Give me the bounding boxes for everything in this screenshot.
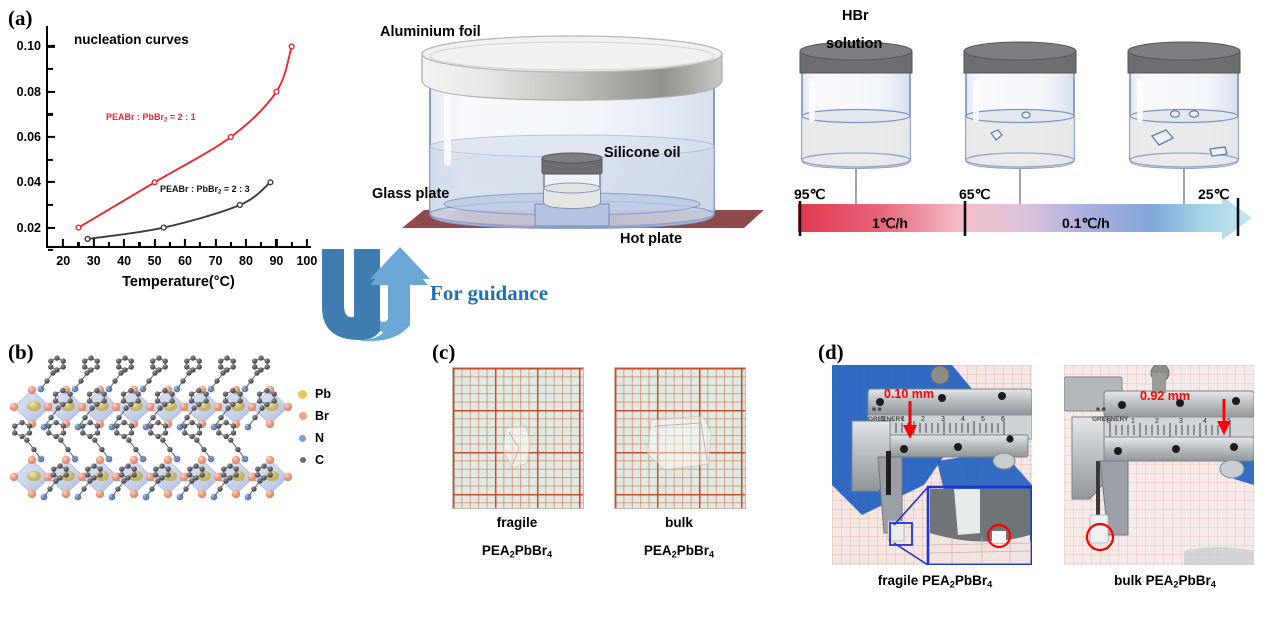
c-atom <box>91 475 96 480</box>
vial-3 <box>1128 42 1240 168</box>
c-atom <box>51 466 56 471</box>
br-atom <box>62 456 70 464</box>
c-atom <box>223 391 228 396</box>
c-atom <box>272 391 277 396</box>
c-atom <box>116 364 121 369</box>
c-atom <box>194 437 199 442</box>
y-tick-mark <box>48 181 55 183</box>
br-atom <box>44 473 52 481</box>
c-atom <box>223 434 228 439</box>
br-atom <box>96 456 104 464</box>
br-atom <box>78 403 86 411</box>
caption-c-right-formula: PEA2PbBr4 <box>599 543 759 559</box>
chart-plot-frame: nucleation curves PEABr : PbBr2 = 2 : 1 … <box>46 26 311 248</box>
c-atom <box>121 398 126 403</box>
svg-text:■ ■: ■ ■ <box>1096 406 1106 413</box>
label-hbr: HBr <box>842 8 869 24</box>
c-atom <box>189 391 194 396</box>
c-atom <box>54 367 59 372</box>
c-atom <box>27 423 32 428</box>
c-atom <box>64 466 69 471</box>
temp-label-25: 25℃ <box>1198 186 1229 203</box>
data-point <box>289 44 294 49</box>
c-atom <box>231 430 236 435</box>
c-atom <box>252 358 257 363</box>
c-atom <box>231 423 236 428</box>
pb-atom <box>27 401 41 411</box>
caption-c-right-quality: bulk <box>599 515 759 530</box>
c-atom <box>82 358 87 363</box>
legend-label-n: N <box>315 431 324 445</box>
crystal-structure-diagram: PbBrNC <box>10 335 410 615</box>
br-atom <box>28 386 36 394</box>
c-atom <box>163 364 168 369</box>
c-atom <box>87 420 92 425</box>
c-atom <box>166 466 171 471</box>
br-atom <box>180 403 188 411</box>
chart-x-axis-label: Temperature(°C) <box>122 274 235 290</box>
c-atom <box>221 472 226 477</box>
c-atom <box>258 367 263 372</box>
c-atom <box>261 475 266 480</box>
x-tick-label: 30 <box>87 246 101 268</box>
panel-label-a: (a) <box>8 6 33 31</box>
x-tick-label: 60 <box>178 246 192 268</box>
c-atom <box>163 423 168 428</box>
c-atom <box>148 423 153 428</box>
data-point <box>76 225 81 230</box>
c-atom <box>129 364 134 369</box>
br-atom <box>248 403 256 411</box>
y-tick-mark <box>48 91 55 93</box>
c-atom <box>155 391 160 396</box>
c-atom <box>257 391 262 396</box>
x-minor-tick <box>230 242 232 247</box>
c-atom <box>61 423 66 428</box>
c-atom <box>257 398 262 403</box>
c-atom <box>204 398 209 403</box>
c-atom <box>48 364 53 369</box>
oil-bath-drawing <box>372 18 772 258</box>
c-atom <box>85 466 90 471</box>
c-atom <box>231 364 236 369</box>
vial-1 <box>800 42 912 168</box>
c-atom <box>95 430 100 435</box>
br-atom <box>214 403 222 411</box>
x-minor-tick <box>260 242 262 247</box>
c-atom <box>197 358 202 363</box>
br-atom <box>214 473 222 481</box>
x-tick-label: 70 <box>209 246 223 268</box>
c-atom <box>182 423 187 428</box>
ruler-tick-number: 3 <box>941 416 945 423</box>
c-atom <box>163 358 168 363</box>
y-minor-tick <box>48 159 53 161</box>
chart-plot-area: nucleation curves PEABr : PbBr2 = 2 : 1 … <box>48 26 311 246</box>
legend-dot-pb <box>298 390 307 399</box>
c-atom <box>87 398 92 403</box>
vial-2 <box>964 42 1076 168</box>
c-atom <box>255 472 260 477</box>
c-atom <box>98 466 103 471</box>
br-atom <box>78 473 86 481</box>
legend-dot-br <box>299 412 307 420</box>
c-atom <box>24 437 29 442</box>
ruler-tick-number: 4 <box>961 416 965 423</box>
c-atom <box>122 367 127 372</box>
x-tick-mark <box>184 239 186 246</box>
legend-label-c: C <box>315 453 324 467</box>
x-minor-tick <box>108 242 110 247</box>
c-atom <box>95 423 100 428</box>
data-point <box>274 89 279 94</box>
c-atom <box>197 430 202 435</box>
x-tick-mark <box>214 239 216 246</box>
c-atom <box>238 391 243 396</box>
c-atom <box>114 430 119 435</box>
c-atom <box>102 398 107 403</box>
c-atom <box>255 466 260 471</box>
c-atom <box>129 423 134 428</box>
c-atom <box>12 430 17 435</box>
y-tick-label: 0.02 <box>17 221 48 235</box>
label-glass-plate: Glass plate <box>372 186 449 202</box>
photo-fragile-caliper: 0123456 ■ ■ GREENERY <box>832 365 1032 565</box>
y-minor-tick <box>48 204 53 206</box>
series-label-1: PEABr : PbBr2 = 2 : 1 <box>106 112 196 124</box>
br-atom <box>266 420 274 428</box>
c-atom <box>57 475 62 480</box>
bulk-crystal-overlay <box>615 368 745 508</box>
c-atom <box>157 405 162 410</box>
photo-bulk-caliper: 012345 ■ ■ GREENERY 0.92 mm <box>1064 365 1254 565</box>
c-atom <box>136 391 141 396</box>
x-minor-tick <box>169 242 171 247</box>
c-atom <box>129 430 134 435</box>
c-atom <box>252 364 257 369</box>
br-atom <box>164 490 172 498</box>
chart-svg <box>48 26 313 248</box>
rate-label-1: 1℃/h <box>872 215 908 232</box>
c-atom <box>53 434 58 439</box>
br-atom <box>96 490 104 498</box>
guidance-arrow-group: For guidance <box>300 245 600 345</box>
x-tick-mark <box>245 239 247 246</box>
c-atom <box>95 358 100 363</box>
c-atom <box>200 466 205 471</box>
c-atom <box>114 423 119 428</box>
c-atom <box>162 388 167 393</box>
c-atom <box>264 402 269 407</box>
br-atom <box>284 473 292 481</box>
guidance-text: For guidance <box>430 281 548 306</box>
x-tick-label: 80 <box>239 246 253 268</box>
x-minor-tick <box>77 242 79 247</box>
c-atom <box>126 437 131 442</box>
br-atom <box>112 473 120 481</box>
rate-label-0.1: 0.1℃/h <box>1062 215 1110 232</box>
ruler-tick-number: 5 <box>981 416 985 423</box>
y-minor-tick <box>48 68 53 70</box>
c-atom <box>136 398 141 403</box>
data-point <box>161 225 166 230</box>
c-atom <box>128 402 133 407</box>
br-atom <box>10 403 18 411</box>
c-atom <box>238 398 243 403</box>
br-atom <box>164 456 172 464</box>
x-tick-mark <box>275 239 277 246</box>
y-tick-label: 0.08 <box>17 85 48 99</box>
c-atom <box>61 364 66 369</box>
c-atom <box>121 434 126 439</box>
c-atom <box>119 472 124 477</box>
c-atom <box>94 388 99 393</box>
photo-fragile-crystal <box>452 367 584 509</box>
br-atom <box>284 403 292 411</box>
x-tick-label: 50 <box>148 246 162 268</box>
c-atom <box>46 423 51 428</box>
c-atom <box>224 367 229 372</box>
caption-c-left-formula: PEA2PbBr4 <box>437 543 597 559</box>
x-tick-mark <box>123 239 125 246</box>
ruler-tick-number: 3 <box>1179 418 1183 425</box>
c-atom <box>51 472 56 477</box>
caliper-photos: 0123456 ■ ■ GREENERY <box>818 335 1268 605</box>
data-point <box>85 237 90 242</box>
ruler-tick-number: 1 <box>1131 418 1135 425</box>
y-tick-mark <box>48 45 55 47</box>
c-atom <box>228 437 233 442</box>
x-tick-label: 20 <box>56 246 70 268</box>
c-atom <box>196 388 201 393</box>
x-minor-tick <box>138 242 140 247</box>
c-atom <box>216 423 221 428</box>
svg-text:GREENERY: GREENERY <box>868 416 905 423</box>
c-atom <box>88 367 93 372</box>
br-atom <box>232 490 240 498</box>
c-atom <box>102 391 107 396</box>
measurement-label-left: 0.10 mm <box>884 387 934 401</box>
c-atom <box>170 398 175 403</box>
c-atom <box>153 472 158 477</box>
br-atom <box>266 490 274 498</box>
data-point <box>228 135 233 140</box>
c-atom <box>68 398 73 403</box>
c-atom <box>27 430 32 435</box>
c-atom <box>227 475 232 480</box>
c-atom <box>55 405 60 410</box>
c-atom <box>225 405 230 410</box>
c-atom <box>272 398 277 403</box>
c-atom <box>129 358 134 363</box>
c-atom <box>46 430 51 435</box>
c-atom <box>12 423 17 428</box>
c-atom <box>160 437 165 442</box>
c-atom <box>197 364 202 369</box>
c-atom <box>80 430 85 435</box>
c-atom <box>218 358 223 363</box>
c-atom <box>221 466 226 471</box>
c-atom <box>123 405 128 410</box>
c-atom <box>196 402 201 407</box>
br-atom <box>10 473 18 481</box>
c-atom <box>82 364 87 369</box>
svg-text:GREENERY: GREENERY <box>1092 416 1129 423</box>
nucleation-chart: nucleation curves PEABr : PbBr2 = 2 : 1 … <box>46 26 311 248</box>
ruler-tick-number: 2 <box>1155 418 1159 425</box>
c-atom <box>223 420 228 425</box>
y-minor-tick <box>48 249 53 251</box>
legend-label-pb: Pb <box>315 387 331 401</box>
y-tick-label: 0.10 <box>17 39 48 53</box>
c-atom <box>95 364 100 369</box>
c-atom <box>19 420 24 425</box>
c-atom <box>132 472 137 477</box>
data-point <box>268 180 273 185</box>
ruler-tick-number: 2 <box>921 416 925 423</box>
c-atom <box>265 364 270 369</box>
br-atom <box>28 490 36 498</box>
x-tick-mark <box>62 239 64 246</box>
grid-paper-photos: fragile PEA2PbBr4 bulk PEA2PbBr4 <box>432 335 802 605</box>
y-tick-mark <box>48 227 55 229</box>
br-atom <box>266 456 274 464</box>
c-atom <box>155 434 160 439</box>
c-atom <box>98 472 103 477</box>
c-atom <box>53 398 58 403</box>
c-atom <box>119 466 124 471</box>
c-atom <box>218 364 223 369</box>
c-atom <box>155 398 160 403</box>
c-atom <box>64 472 69 477</box>
br-atom <box>198 456 206 464</box>
br-atom <box>130 456 138 464</box>
c-atom <box>189 398 194 403</box>
oil-bath-schematic: Aluminium foil Silicone oil Glass plate … <box>372 18 772 258</box>
c-atom <box>92 437 97 442</box>
c-atom <box>150 364 155 369</box>
legend-label-br: Br <box>315 409 329 423</box>
c-atom <box>153 466 158 471</box>
c-atom <box>89 405 94 410</box>
fragile-crystal-overlay <box>453 368 583 508</box>
c-atom <box>60 388 65 393</box>
c-atom <box>189 420 194 425</box>
c-atom <box>187 466 192 471</box>
svg-text:■ ■: ■ ■ <box>872 406 882 413</box>
x-minor-tick <box>291 242 293 247</box>
series-label-2: PEABr : PbBr2 = 2 : 3 <box>160 184 250 196</box>
label-silicone-oil: Silicone oil <box>604 145 681 161</box>
c-atom <box>191 405 196 410</box>
series-line-1 <box>79 46 292 227</box>
caption-d-right: bulk PEA2PbBr4 <box>1080 573 1250 589</box>
br-atom <box>198 490 206 498</box>
c-atom <box>268 466 273 471</box>
y-tick-label: 0.06 <box>17 130 48 144</box>
c-atom <box>128 388 133 393</box>
cooling-profile-schematic: HBr solution <box>790 8 1260 253</box>
c-atom <box>265 358 270 363</box>
c-atom <box>170 391 175 396</box>
temp-label-65: 65℃ <box>959 186 990 203</box>
c-atom <box>223 398 228 403</box>
c-atom <box>268 472 273 477</box>
label-solution: solution <box>826 36 882 52</box>
c-atom <box>68 391 73 396</box>
measurement-label-right: 0.92 mm <box>1140 389 1190 403</box>
caption-d-left: fragile PEA2PbBr4 <box>850 573 1020 589</box>
c-atom <box>159 475 164 480</box>
perovskite-structure-drawing <box>10 335 410 585</box>
c-atom <box>121 391 126 396</box>
c-atom <box>197 423 202 428</box>
c-atom <box>230 402 235 407</box>
c-atom <box>87 434 92 439</box>
data-point <box>238 203 243 208</box>
c-atom <box>94 402 99 407</box>
legend-dot-c <box>300 457 306 463</box>
c-atom <box>264 388 269 393</box>
c-atom <box>155 420 160 425</box>
c-atom <box>58 437 63 442</box>
c-atom <box>259 405 264 410</box>
c-atom <box>190 367 195 372</box>
c-atom <box>156 367 161 372</box>
c-atom <box>187 472 192 477</box>
data-point <box>152 180 157 185</box>
x-tick-mark <box>93 239 95 246</box>
c-atom <box>162 402 167 407</box>
br-atom <box>180 473 188 481</box>
c-atom <box>182 430 187 435</box>
legend-dot-n <box>299 435 306 442</box>
c-atom <box>231 358 236 363</box>
c-atom <box>163 430 168 435</box>
x-tick-label: 90 <box>269 246 283 268</box>
br-atom <box>232 456 240 464</box>
c-atom <box>60 402 65 407</box>
c-atom <box>193 475 198 480</box>
c-atom <box>80 423 85 428</box>
c-atom <box>87 391 92 396</box>
c-atom <box>53 420 58 425</box>
c-atom <box>166 472 171 477</box>
br-atom <box>248 473 256 481</box>
ruler-tick-number: 6 <box>1001 416 1005 423</box>
pb-atom <box>27 471 41 481</box>
temp-label-95: 95℃ <box>794 186 825 203</box>
c-atom <box>234 472 239 477</box>
photo-bulk-crystal <box>614 367 746 509</box>
br-atom <box>28 456 36 464</box>
label-aluminium-foil: Aluminium foil <box>380 24 481 40</box>
c-atom <box>150 358 155 363</box>
c-atom <box>85 472 90 477</box>
x-tick-mark <box>154 239 156 246</box>
c-atom <box>189 434 194 439</box>
c-atom <box>132 466 137 471</box>
x-minor-tick <box>199 242 201 247</box>
c-atom <box>48 358 53 363</box>
c-atom <box>61 430 66 435</box>
c-atom <box>216 430 221 435</box>
label-hot-plate: Hot plate <box>620 231 682 247</box>
br-atom <box>146 473 154 481</box>
c-atom <box>19 434 24 439</box>
c-atom <box>200 472 205 477</box>
c-atom <box>234 466 239 471</box>
